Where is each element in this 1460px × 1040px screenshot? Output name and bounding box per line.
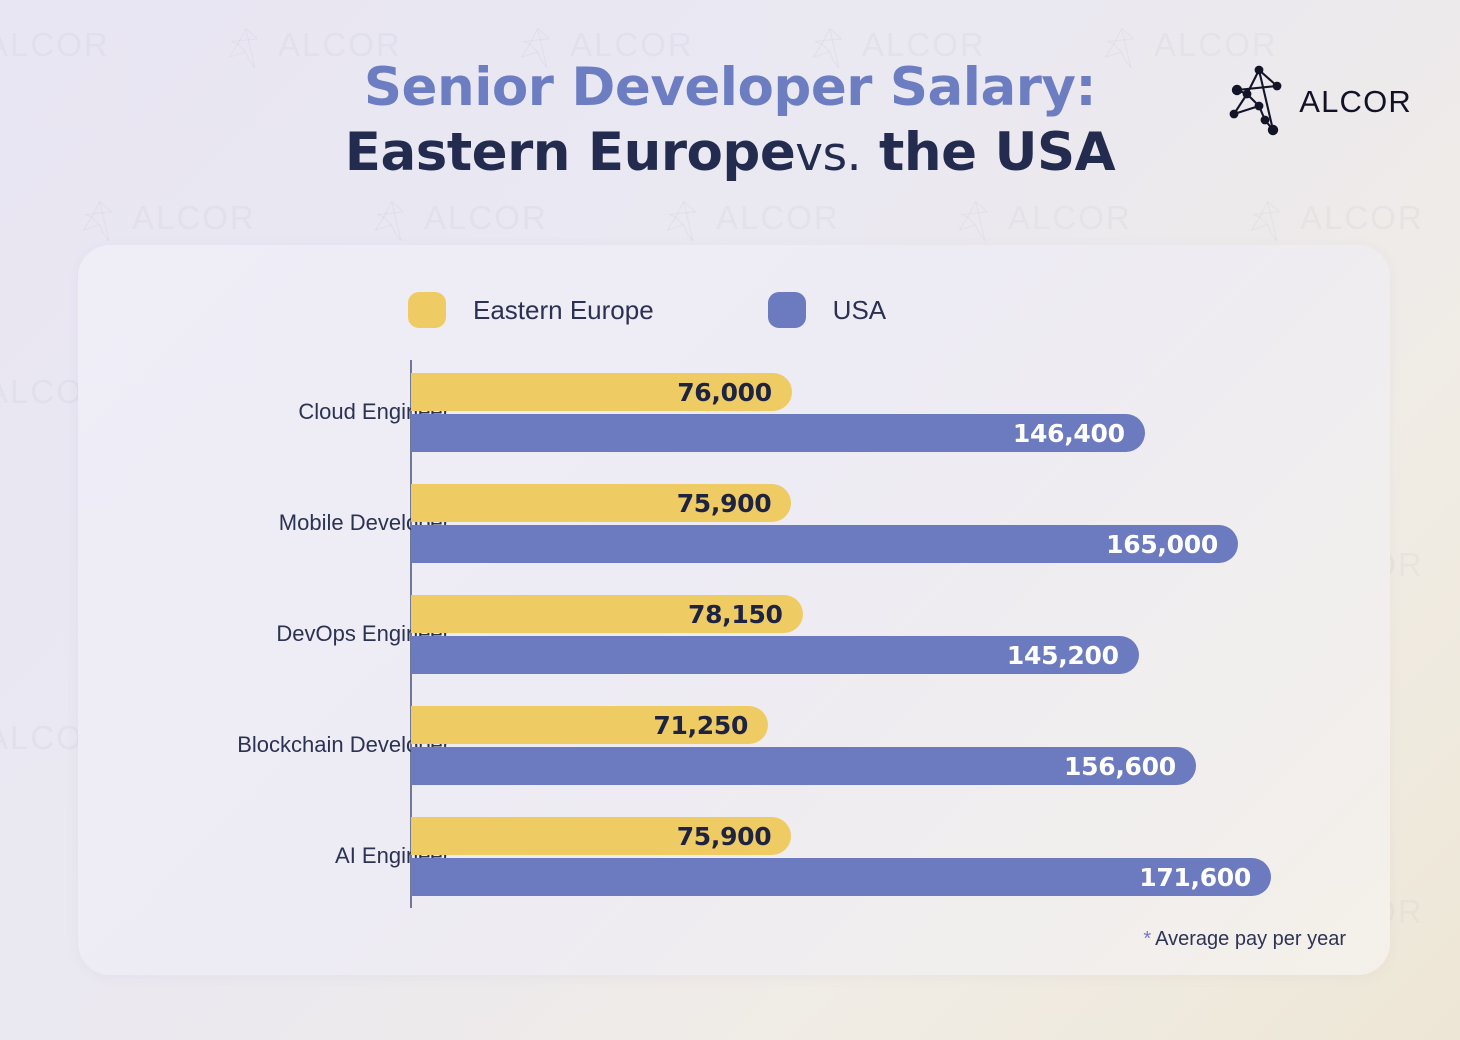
bar-value-label: 156,600 bbox=[1064, 752, 1196, 781]
bar-value-label: 146,400 bbox=[1013, 419, 1145, 448]
chart-card: Eastern Europe USA Cloud Engineer76,0001… bbox=[78, 245, 1390, 975]
bar-value-label: 171,600 bbox=[1139, 863, 1271, 892]
chart-footnote: *Average pay per year bbox=[1143, 928, 1346, 951]
bar-usa[interactable]: 165,000 bbox=[411, 525, 1238, 563]
bar-chart-plot: Cloud Engineer76,000146,400Mobile Develo… bbox=[78, 360, 1390, 920]
title-line-2-vs: vs. bbox=[795, 127, 861, 182]
bar-value-label: 76,000 bbox=[677, 378, 792, 407]
bar-group: Cloud Engineer76,000146,400 bbox=[78, 373, 1390, 457]
bar-value-label: 71,250 bbox=[653, 711, 768, 740]
legend-label-eastern-europe: Eastern Europe bbox=[473, 295, 654, 326]
bar-value-label: 75,900 bbox=[677, 489, 792, 518]
brand-logo: ALCOR bbox=[1227, 60, 1412, 144]
bar-group: AI Engineer75,900171,600 bbox=[78, 817, 1390, 901]
legend-label-usa: USA bbox=[833, 295, 886, 326]
legend-swatch-icon-eastern-europe bbox=[408, 292, 446, 328]
chart-legend: Eastern Europe USA bbox=[408, 292, 886, 328]
bar-usa[interactable]: 156,600 bbox=[411, 747, 1196, 785]
bar-value-label: 75,900 bbox=[677, 822, 792, 851]
bar-eastern-europe[interactable]: 75,900 bbox=[411, 484, 791, 522]
brand-name: ALCOR bbox=[1299, 84, 1412, 120]
title-line-2-region: Eastern Europe bbox=[345, 122, 796, 183]
bar-usa[interactable]: 146,400 bbox=[411, 414, 1145, 452]
bar-eastern-europe[interactable]: 71,250 bbox=[411, 706, 768, 744]
bar-value-label: 78,150 bbox=[688, 600, 803, 629]
bar-value-label: 165,000 bbox=[1106, 530, 1238, 559]
bar-eastern-europe[interactable]: 78,150 bbox=[411, 595, 803, 633]
alcor-constellation-icon bbox=[1227, 60, 1289, 144]
bar-usa[interactable]: 171,600 bbox=[411, 858, 1271, 896]
legend-item-eastern-europe[interactable]: Eastern Europe bbox=[408, 292, 654, 328]
bar-eastern-europe[interactable]: 75,900 bbox=[411, 817, 791, 855]
title-line-2-country: the USA bbox=[879, 122, 1115, 183]
bar-group: Blockchain Developer71,250156,600 bbox=[78, 706, 1390, 790]
bar-group: DevOps Engineer78,150145,200 bbox=[78, 595, 1390, 679]
bar-value-label: 145,200 bbox=[1007, 641, 1139, 670]
bar-eastern-europe[interactable]: 76,000 bbox=[411, 373, 792, 411]
legend-swatch-icon-usa bbox=[768, 292, 806, 328]
legend-item-usa[interactable]: USA bbox=[768, 292, 886, 328]
bar-group: Mobile Developer75,900165,000 bbox=[78, 484, 1390, 568]
bar-usa[interactable]: 145,200 bbox=[411, 636, 1139, 674]
footnote-text: Average pay per year bbox=[1155, 928, 1346, 950]
footnote-asterisk: * bbox=[1143, 928, 1151, 950]
